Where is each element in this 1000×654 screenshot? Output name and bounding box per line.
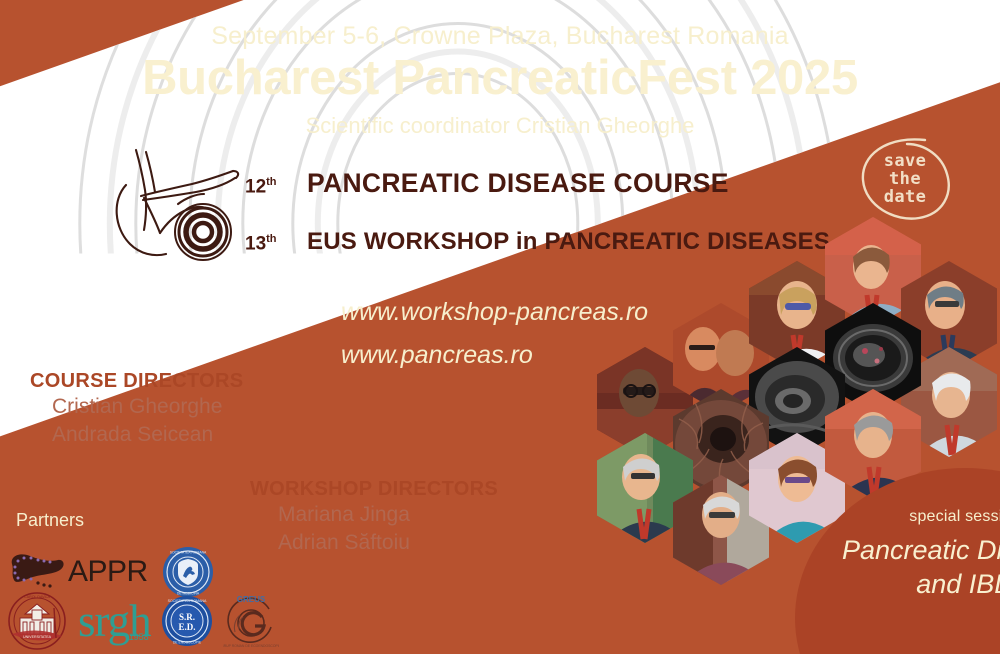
scientific-coordinator: Scientific coordinator Cristian Gheorghe [0,113,1000,139]
srgh-logo-year: 1958 [129,632,149,642]
event-row-course: 12th PANCREATIC DISEASE COURSE [245,168,729,199]
appr-pancreas-icon [6,550,66,594]
special-session-label: special session [909,508,1000,526]
save-the-date-line3: date [884,189,927,207]
course-director-name-2: Andrada Seicean [30,421,243,449]
pancreas-line-art-icon [100,138,245,263]
svg-text:GRUP ROMAN DE ECOENDOSCOPIE: GRUP ROMAN DE ECOENDOSCOPIE [223,644,279,648]
workshop-director-name-2: Adrian Săftoiu [250,529,498,557]
svg-text:GREUS: GREUS [236,595,265,604]
save-the-date-stamp: save the date [855,132,955,228]
srgh-logo: srgh 1958 [78,602,151,640]
appr-logo-text: APPR [68,555,148,589]
svg-text:SOCIETATEA ROMANA: SOCIETATEA ROMANA [167,599,206,603]
greus-logo: GREUS GRUP ROMAN DE ECOENDOSCOPIE [223,593,279,649]
course-director-name-1: Cristian Gheorghe [30,393,243,421]
location-line: September 5-6, Crowne Plaza, Bucharest R… [0,22,1000,51]
partner-logo-row-2: UNIVERSITATEA CAROL DAVILA srgh 1958 S.R… [6,592,279,650]
event-name-course: PANCREATIC DISEASE COURSE [307,168,729,199]
svg-text:E.D.: E.D. [178,622,195,632]
partners-label: Partners [16,510,84,531]
event-ordinal-course: 12th [245,176,307,198]
svg-text:S.R.: S.R. [179,612,195,622]
special-session-title: Pancreatic Diseases and IBD [842,534,1000,602]
appr-logo: APPR [6,550,148,594]
course-directors-block: COURSE DIRECTORS Cristian Gheorghe Andra… [30,370,243,449]
partner-logo-row-1: APPR SOCIETATEA ROMANA DE MEDICINA [6,546,214,598]
svg-text:UNIVERSITATEA: UNIVERSITATEA [23,635,52,639]
svg-text:DE ENDOSCOPIE: DE ENDOSCOPIE [173,641,202,645]
poster-title: Bucharest PancreaticFest 2025 [0,50,1000,106]
course-directors-heading: COURSE DIRECTORS [30,370,243,393]
svg-text:CAROL DAVILA: CAROL DAVILA [24,595,50,599]
event-ordinal-workshop: 13th [245,233,307,255]
workshop-directors-heading: WORKSHOP DIRECTORS [250,478,498,501]
workshop-director-name-1: Mariana Jinga [250,501,498,529]
svg-text:SOCIETATEA ROMANA: SOCIETATEA ROMANA [169,551,206,555]
institution-crest-logo: UNIVERSITATEA CAROL DAVILA [6,592,68,650]
conference-poster: September 5-6, Crowne Plaza, Bucharest R… [0,0,1000,654]
workshop-directors-block: WORKSHOP DIRECTORS Mariana Jinga Adrian … [250,478,498,557]
medical-society-seal-logo: SOCIETATEA ROMANA DE MEDICINA [162,546,214,598]
sred-seal-logo: S.R. E.D. SOCIETATEA ROMANA DE ENDOSCOPI… [161,595,213,647]
website-link-pancreas[interactable]: www.pancreas.ro [341,341,533,370]
